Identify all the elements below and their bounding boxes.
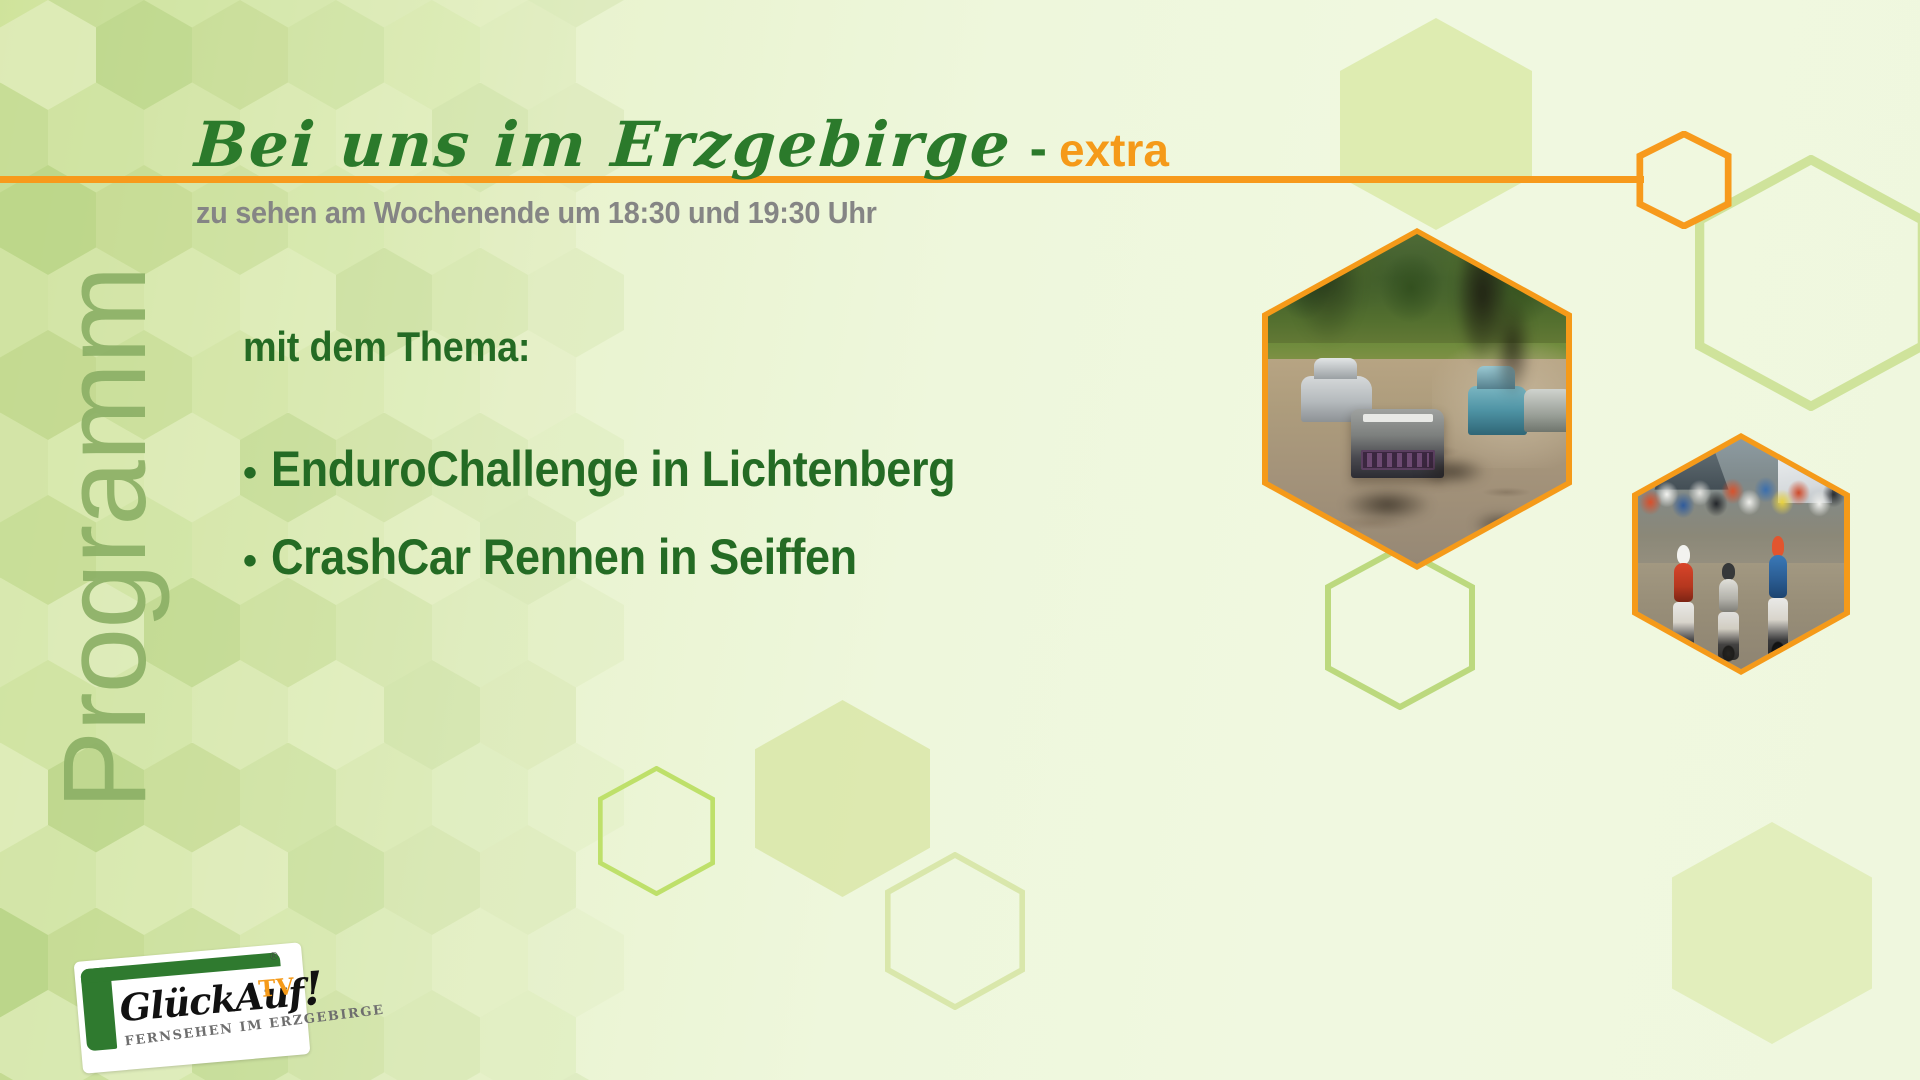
list-item-label: CrashCar Rennen in Seiffen xyxy=(271,528,857,586)
logo-exclamation: ! xyxy=(301,961,325,1016)
list-item: • CrashCar Rennen in Seiffen xyxy=(243,528,1031,586)
honeycomb-cell xyxy=(0,0,96,110)
honeycomb-cell xyxy=(240,0,336,28)
topic-bullet-list: • EnduroChallenge in Lichtenberg • Crash… xyxy=(243,440,1031,616)
honeycomb-cell xyxy=(432,1073,528,1080)
glueckauf-tv-logo: GlückAuf! ® TV FERNSEHEN IM ERZGEBIRGE xyxy=(74,942,311,1073)
honeycomb-cell xyxy=(528,1073,624,1080)
rider-torso xyxy=(1719,579,1738,612)
bullet-marker-icon: • xyxy=(243,541,257,581)
honeycomb-cell xyxy=(432,743,528,853)
honeycomb-cell xyxy=(240,743,336,853)
honeycomb-cell xyxy=(384,990,480,1080)
honeycomb-cell xyxy=(0,1073,48,1080)
logo-tv-text: TV xyxy=(257,973,295,1003)
rider-crowd-layer xyxy=(1638,471,1844,549)
honeycomb-cell xyxy=(48,0,144,28)
bullet-marker-icon: • xyxy=(243,453,257,493)
broadcast-time-subtitle: zu sehen am Wochenende um 18:30 und 19:3… xyxy=(196,195,877,231)
section-label-programm: Programm xyxy=(37,228,173,848)
honeycomb-cell xyxy=(0,908,48,1018)
hexagon-photo-clip xyxy=(1268,234,1566,564)
rider-mid xyxy=(1716,563,1741,660)
honeycomb-cell xyxy=(528,248,624,358)
motorbike xyxy=(1673,602,1694,660)
honeycomb-cell xyxy=(384,660,480,770)
rider-front-right xyxy=(1766,536,1791,660)
honeycomb-cell xyxy=(384,825,480,935)
honeycomb-cell xyxy=(528,908,624,1018)
honeycomb-cell xyxy=(288,660,384,770)
list-item-label: EnduroChallenge in Lichtenberg xyxy=(271,440,955,498)
decorative-hexagon-outline-left-bottom xyxy=(598,766,715,896)
honeycomb-cell xyxy=(288,0,384,110)
honeycomb-cell xyxy=(240,1073,336,1080)
honeycomb-cell xyxy=(432,908,528,1018)
decorative-hexagon-far-right-bottom xyxy=(1672,822,1872,1044)
decorative-hexagon-outline-right-bottom xyxy=(885,852,1025,1010)
helmet-icon xyxy=(1772,536,1785,557)
rider-torso xyxy=(1674,563,1693,602)
motorbike xyxy=(1718,612,1739,660)
crashcar-hexagon-photo xyxy=(1262,228,1572,570)
honeycomb-cell xyxy=(48,1073,144,1080)
honeycomb-cell xyxy=(528,0,624,28)
honeycomb-cell xyxy=(144,0,240,28)
title-extra-text: extra xyxy=(1059,123,1169,177)
honeycomb-cell xyxy=(96,0,192,110)
title-main-text: Bei uns im Erzgebirge xyxy=(192,108,1014,181)
topic-label: mit dem Thema: xyxy=(243,323,530,371)
honeycomb-cell xyxy=(480,0,576,110)
honeycomb-cell xyxy=(0,0,48,28)
broadcast-slide: Programm Bei uns im Erzgebirge - extra z… xyxy=(0,0,1920,1080)
honeycomb-cell xyxy=(336,0,432,28)
honeycomb-cell xyxy=(480,825,576,935)
slide-title: Bei uns im Erzgebirge - extra xyxy=(195,108,1169,181)
honeycomb-cell xyxy=(144,1073,240,1080)
honeycomb-cell xyxy=(336,908,432,1018)
honeycomb-cell xyxy=(336,1073,432,1080)
title-dash: - xyxy=(1030,119,1047,179)
helmet-icon xyxy=(1677,545,1690,565)
honeycomb-cell xyxy=(336,743,432,853)
honeycomb-cell xyxy=(480,990,576,1080)
orange-hexagon-end-cap xyxy=(1636,131,1732,229)
crashcar-race-scene xyxy=(1268,234,1566,564)
enduro-hexagon-photo xyxy=(1632,433,1850,675)
foreground-blur-overlay xyxy=(1268,234,1566,564)
honeycomb-cell xyxy=(288,825,384,935)
helmet-icon xyxy=(1722,563,1735,579)
dirt-ground-layer xyxy=(1638,563,1844,669)
rider-torso xyxy=(1769,555,1788,597)
honeycomb-cell xyxy=(432,0,528,28)
honeycomb-cell xyxy=(384,0,480,110)
honeycomb-cell xyxy=(192,660,288,770)
honeycomb-cell xyxy=(480,660,576,770)
registered-trademark-icon: ® xyxy=(269,950,278,963)
list-item: • EnduroChallenge in Lichtenberg xyxy=(243,440,1031,498)
honeycomb-cell xyxy=(192,825,288,935)
decorative-hexagon-top-right xyxy=(1340,18,1532,230)
honeycomb-cell xyxy=(192,0,288,110)
